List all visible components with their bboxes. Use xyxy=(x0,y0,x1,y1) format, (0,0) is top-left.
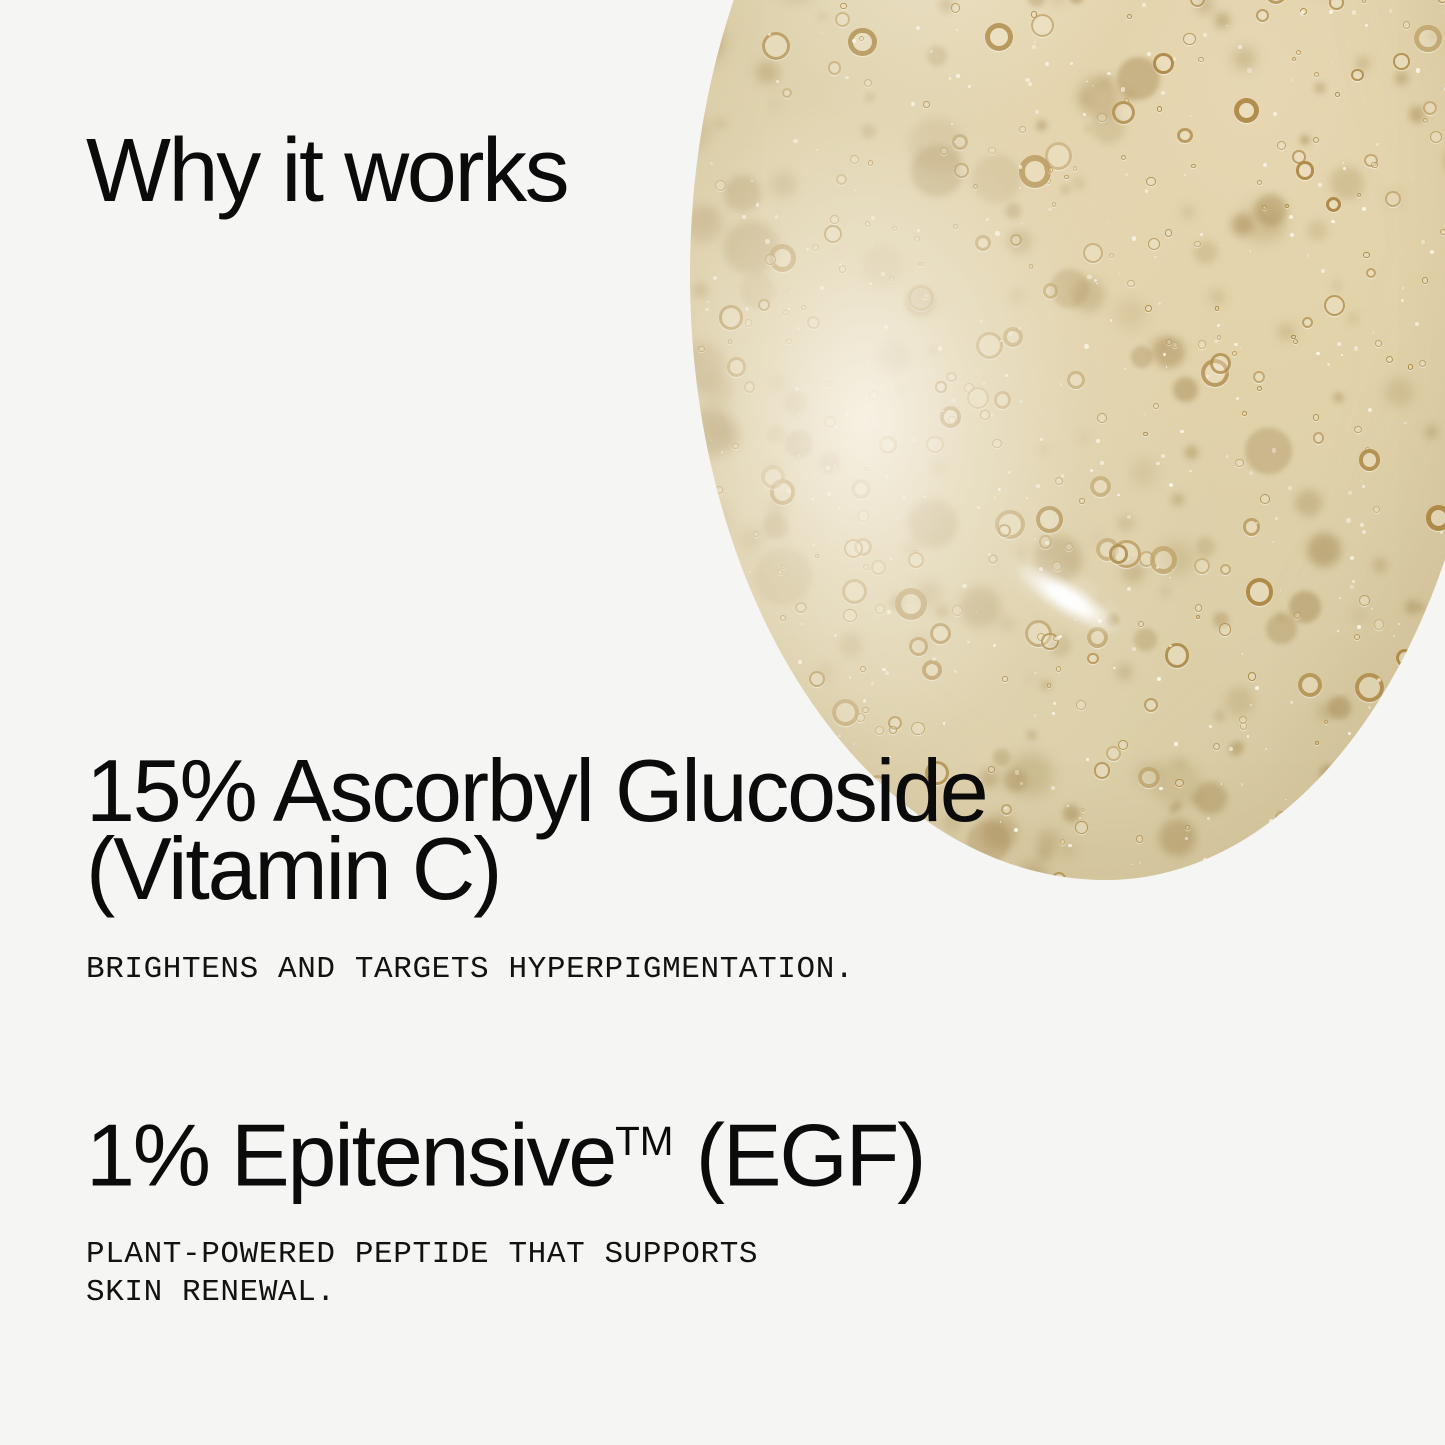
trademark-symbol: TM xyxy=(615,1118,673,1164)
ingredient-name: 15% Ascorbyl Glucoside(Vitamin C) xyxy=(86,752,987,908)
ingredient-description: BRIGHTENS AND TARGETS HYPERPIGMENTATION. xyxy=(86,951,987,989)
ingredient-name-line2: (Vitamin C) xyxy=(86,819,500,918)
ingredient-name-text: 1% Epitensive xyxy=(86,1105,615,1204)
page-title: Why it works xyxy=(86,126,567,216)
serum-specular-highlight xyxy=(990,539,1141,656)
ingredient-name-suffix: (EGF) xyxy=(674,1105,925,1204)
serum-highlight-glow xyxy=(953,501,1176,688)
ingredient-description: PLANT-POWERED PEPTIDE THAT SUPPORTS SKIN… xyxy=(86,1236,924,1312)
ingredient-name: 1% EpitensiveTM (EGF) xyxy=(86,1102,924,1194)
ingredient-item-egf: 1% EpitensiveTM (EGF) PLANT-POWERED PEPT… xyxy=(86,1102,924,1312)
why-it-works-panel: Why it works 15% Ascorbyl Glucoside(Vita… xyxy=(0,0,1445,1445)
ingredient-item-vitamin-c: 15% Ascorbyl Glucoside(Vitamin C) BRIGHT… xyxy=(86,752,987,989)
